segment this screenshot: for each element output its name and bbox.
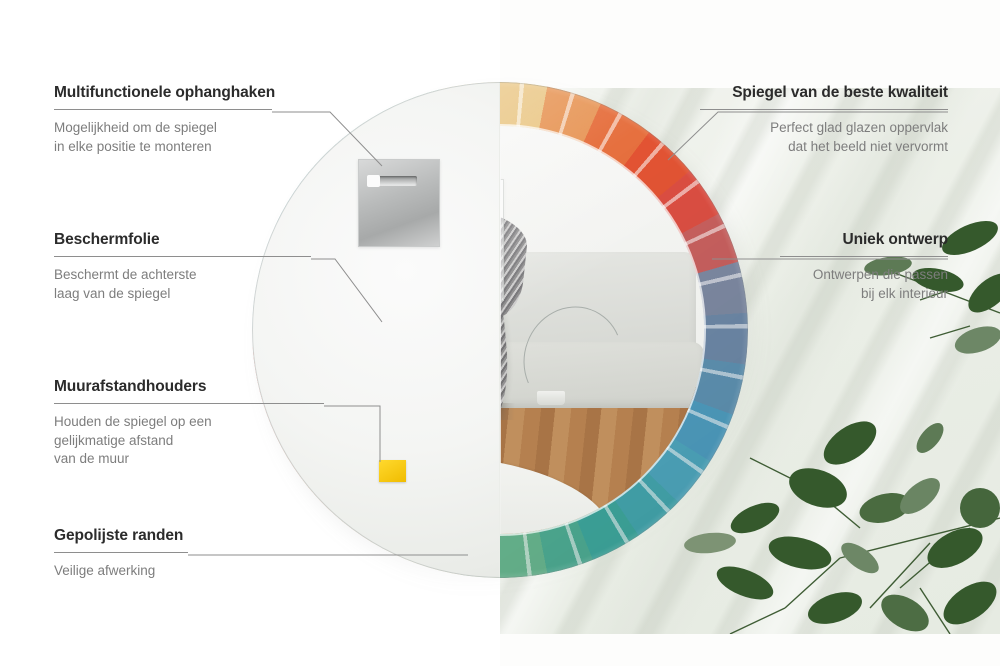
callout-rule [54, 109, 272, 110]
mirror-body [252, 82, 748, 578]
callout-desc: Ontwerpen die passen bij elk interieur [780, 266, 948, 303]
hook-slot [373, 176, 417, 186]
callout-rule [780, 256, 948, 257]
round-mirror [252, 82, 748, 578]
product-view-frame-overlay [252, 82, 500, 578]
infographic-canvas: Multifunctionele ophanghaken Mogelijkhei… [0, 0, 1000, 666]
callout-beschermfolie: Beschermfolie Beschermt de achterste laa… [54, 231, 311, 303]
callout-gepolijste-randen: Gepolijste randen Veilige afwerking [54, 527, 188, 581]
callout-title: Uniek ontwerp [780, 231, 948, 249]
callout-beste-kwaliteit: Spiegel van de beste kwaliteit Perfect g… [700, 84, 948, 156]
callout-desc: Houden de spiegel op een gelijkmatige af… [54, 413, 324, 469]
callout-title: Beschermfolie [54, 231, 311, 249]
callout-rule [54, 403, 324, 404]
callout-title: Multifunctionele ophanghaken [54, 84, 272, 102]
reflected-lamp-shade [537, 391, 566, 405]
callout-rule [54, 256, 311, 257]
callout-title: Spiegel van de beste kwaliteit [700, 84, 948, 102]
callout-desc: Perfect glad glazen oppervlak dat het be… [700, 119, 948, 156]
callout-desc: Beschermt de achterste laag van de spieg… [54, 266, 311, 303]
callout-uniek-ontwerp: Uniek ontwerp Ontwerpen die passen bij e… [780, 231, 948, 303]
callout-ophanghaken: Multifunctionele ophanghaken Mogelijkhei… [54, 84, 272, 156]
callout-title: Muurafstandhouders [54, 378, 324, 396]
callout-rule [54, 552, 188, 553]
callout-desc: Mogelijkheid om de spiegel in elke posit… [54, 119, 272, 156]
callout-desc: Veilige afwerking [54, 562, 188, 581]
callout-muurafstandhouders: Muurafstandhouders Houden de spiegel op … [54, 378, 324, 469]
hanging-hook-plate [358, 159, 440, 247]
callout-title: Gepolijste randen [54, 527, 188, 545]
callout-rule [700, 109, 948, 110]
yellow-wall-spacer [379, 460, 406, 482]
